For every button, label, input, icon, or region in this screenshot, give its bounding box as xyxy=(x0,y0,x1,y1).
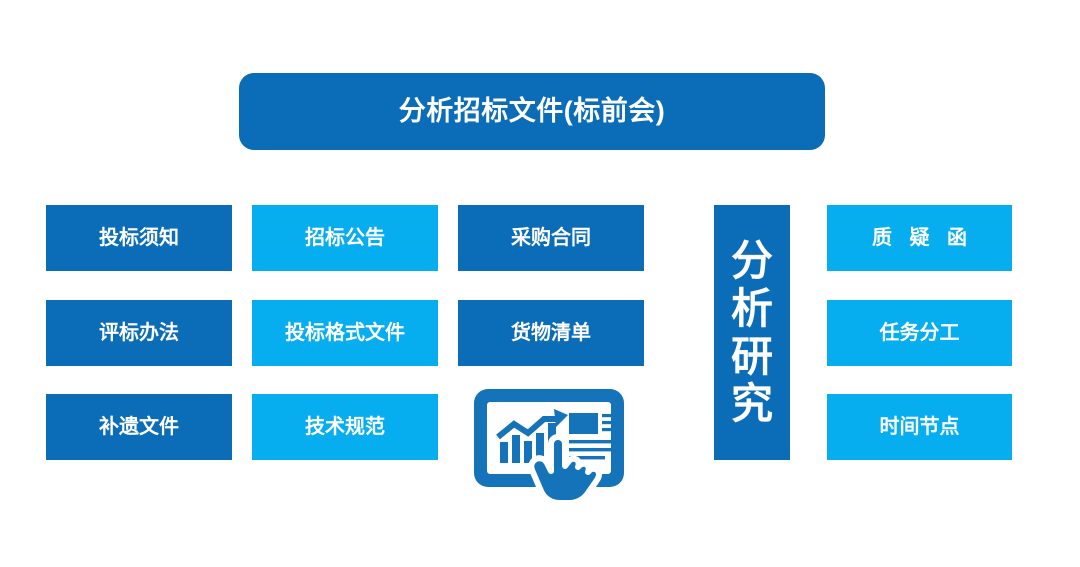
card-column-right-item-1[interactable]: 质 疑 函 xyxy=(827,205,1012,271)
card-column-three-item-1[interactable]: 采购合同 xyxy=(458,205,644,271)
analysis-research-vertical-bar[interactable]: 分 析 研 究 xyxy=(714,205,790,460)
card-label: 任务分工 xyxy=(880,323,960,343)
card-column-right-item-2[interactable]: 任务分工 xyxy=(827,300,1012,366)
card-column-two-item-2[interactable]: 投标格式文件 xyxy=(252,300,438,366)
card-column-two-item-1[interactable]: 招标公告 xyxy=(252,205,438,271)
card-label: 投标须知 xyxy=(99,228,179,248)
diagram-canvas: 分析招标文件(标前会) 投标须知 评标办法 补遗文件 招标公告 投标格式文件 技… xyxy=(0,0,1080,567)
card-label: 投标格式文件 xyxy=(285,323,405,343)
card-column-one-item-2[interactable]: 评标办法 xyxy=(46,300,232,366)
card-label: 质 疑 函 xyxy=(866,228,973,248)
diagram-title-text: 分析招标文件(标前会) xyxy=(399,98,665,125)
card-label: 招标公告 xyxy=(305,228,385,248)
card-column-one-item-1[interactable]: 投标须知 xyxy=(46,205,232,271)
card-column-two-item-3[interactable]: 技术规范 xyxy=(252,394,438,460)
vertical-char-3: 研 xyxy=(731,333,773,381)
card-column-right-item-3[interactable]: 时间节点 xyxy=(827,394,1012,460)
card-column-one-item-3[interactable]: 补遗文件 xyxy=(46,394,232,460)
vertical-char-2: 析 xyxy=(731,285,773,333)
vertical-char-1: 分 xyxy=(731,237,773,285)
diagram-title-banner: 分析招标文件(标前会) xyxy=(239,73,825,150)
card-column-three-item-2[interactable]: 货物清单 xyxy=(458,300,644,366)
tablet-analytics-touch-icon xyxy=(470,385,635,510)
card-label: 评标办法 xyxy=(99,323,179,343)
card-label: 货物清单 xyxy=(511,323,591,343)
vertical-char-4: 究 xyxy=(731,380,773,428)
card-label: 采购合同 xyxy=(511,228,591,248)
card-label: 时间节点 xyxy=(880,417,960,437)
card-label: 技术规范 xyxy=(305,417,385,437)
card-label: 补遗文件 xyxy=(99,417,179,437)
